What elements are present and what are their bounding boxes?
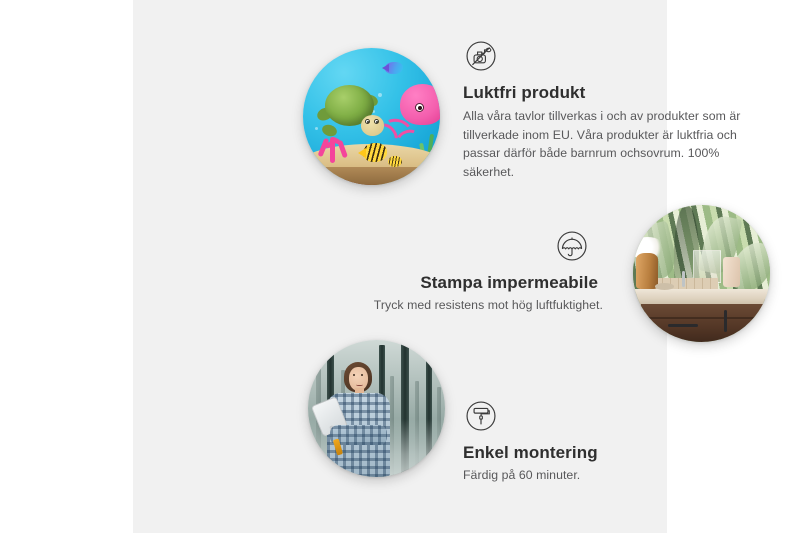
forest-photo <box>308 340 445 477</box>
feature-title: Luktfri produkt <box>463 82 763 103</box>
soap-dish <box>655 283 674 290</box>
feature-odorless: Luktfri produkt Alla våra tavlor tillver… <box>463 38 763 181</box>
product-image-forest[interactable] <box>308 340 445 477</box>
product-image-ocean[interactable] <box>303 48 440 185</box>
toiletry-bottle <box>723 257 739 287</box>
small-yellow-fish <box>388 156 402 167</box>
drawer-handle <box>668 324 698 327</box>
drawer-line <box>641 317 770 319</box>
cabinet-handle <box>724 310 727 332</box>
coral <box>314 127 355 163</box>
product-image-bathroom[interactable] <box>633 205 770 342</box>
yellow-striped-fish <box>363 143 386 162</box>
ocean-artwork <box>303 48 440 185</box>
bathroom-photo <box>633 205 770 342</box>
feature-easy-mounting: Enkel montering Färdig på 60 minuter. <box>463 398 713 485</box>
faucet <box>682 271 685 287</box>
feature-waterproof: Stampa impermeabile Tryck med resistens … <box>338 228 603 315</box>
content-panel: Luktfri produkt Alla våra tavlor tillver… <box>133 0 667 533</box>
feature-title: Enkel montering <box>463 442 713 463</box>
screenshot-root: Luktfri produkt Alla våra tavlor tillver… <box>0 0 800 533</box>
umbrella-icon <box>554 228 590 264</box>
paint-roller-icon <box>463 398 499 434</box>
wooden-vanity <box>641 304 770 342</box>
woman-smile <box>356 382 363 385</box>
blue-fish <box>385 62 403 74</box>
feature-body: Alla våra tavlor tillverkas i och av pro… <box>463 107 763 181</box>
gold-vase <box>636 253 658 289</box>
feature-body: Färdig på 60 minuter. <box>463 466 713 484</box>
sea-bottom-band <box>303 167 440 185</box>
feature-title: Stampa impermeabile <box>338 272 598 293</box>
turtle-eye <box>365 119 370 124</box>
octopus-eye <box>415 103 424 112</box>
no-perfume-icon <box>463 38 499 74</box>
feature-body: Tryck med resistens mot hög luftfuktighe… <box>338 296 603 314</box>
